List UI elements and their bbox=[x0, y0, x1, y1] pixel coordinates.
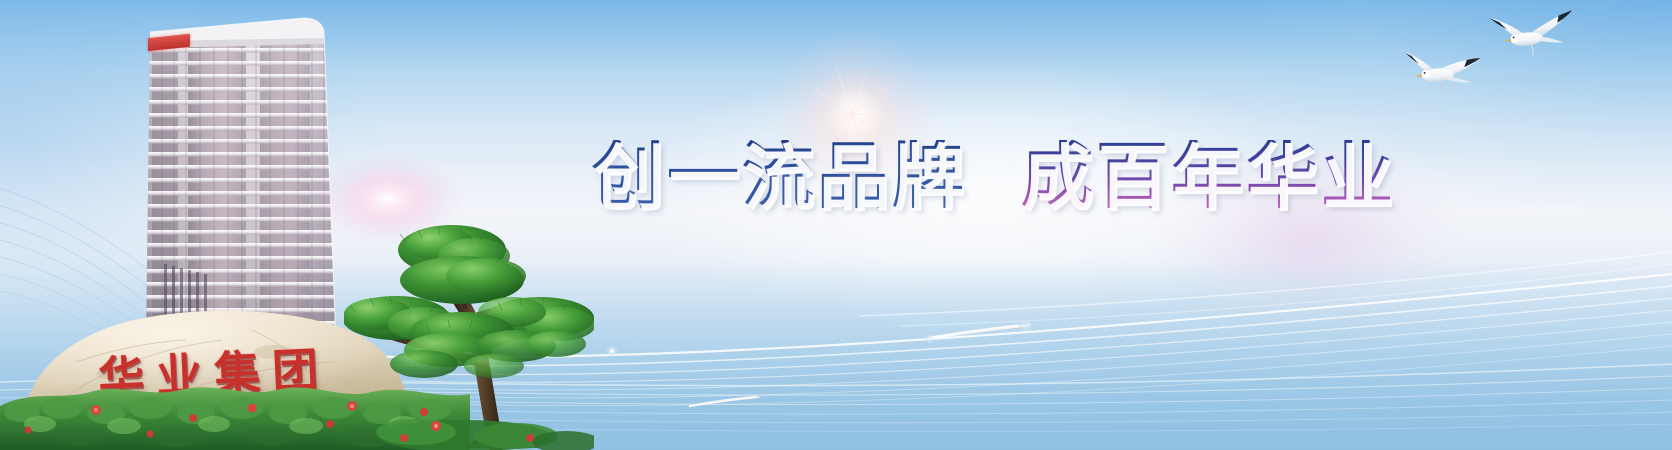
slogan-text: 创一流品牌创一流品牌 成百年华业成百年华业 bbox=[592, 128, 1396, 224]
slogan-part-b: 成百年华业成百年华业 bbox=[1021, 140, 1396, 212]
seagull-lower bbox=[1404, 46, 1483, 98]
slogan-halo: 创一流品牌 bbox=[594, 143, 969, 215]
slogan-part-a: 创一流品牌创一流品牌 bbox=[592, 140, 967, 212]
seagulls bbox=[1380, 8, 1580, 118]
hero-banner: 创一流品牌创一流品牌 成百年华业成百年华业 bbox=[0, 0, 1672, 450]
bonsai-pine-tree bbox=[344, 214, 594, 450]
seagull-upper bbox=[1489, 9, 1576, 59]
slogan-halo: 成百年华业 bbox=[1023, 143, 1398, 215]
